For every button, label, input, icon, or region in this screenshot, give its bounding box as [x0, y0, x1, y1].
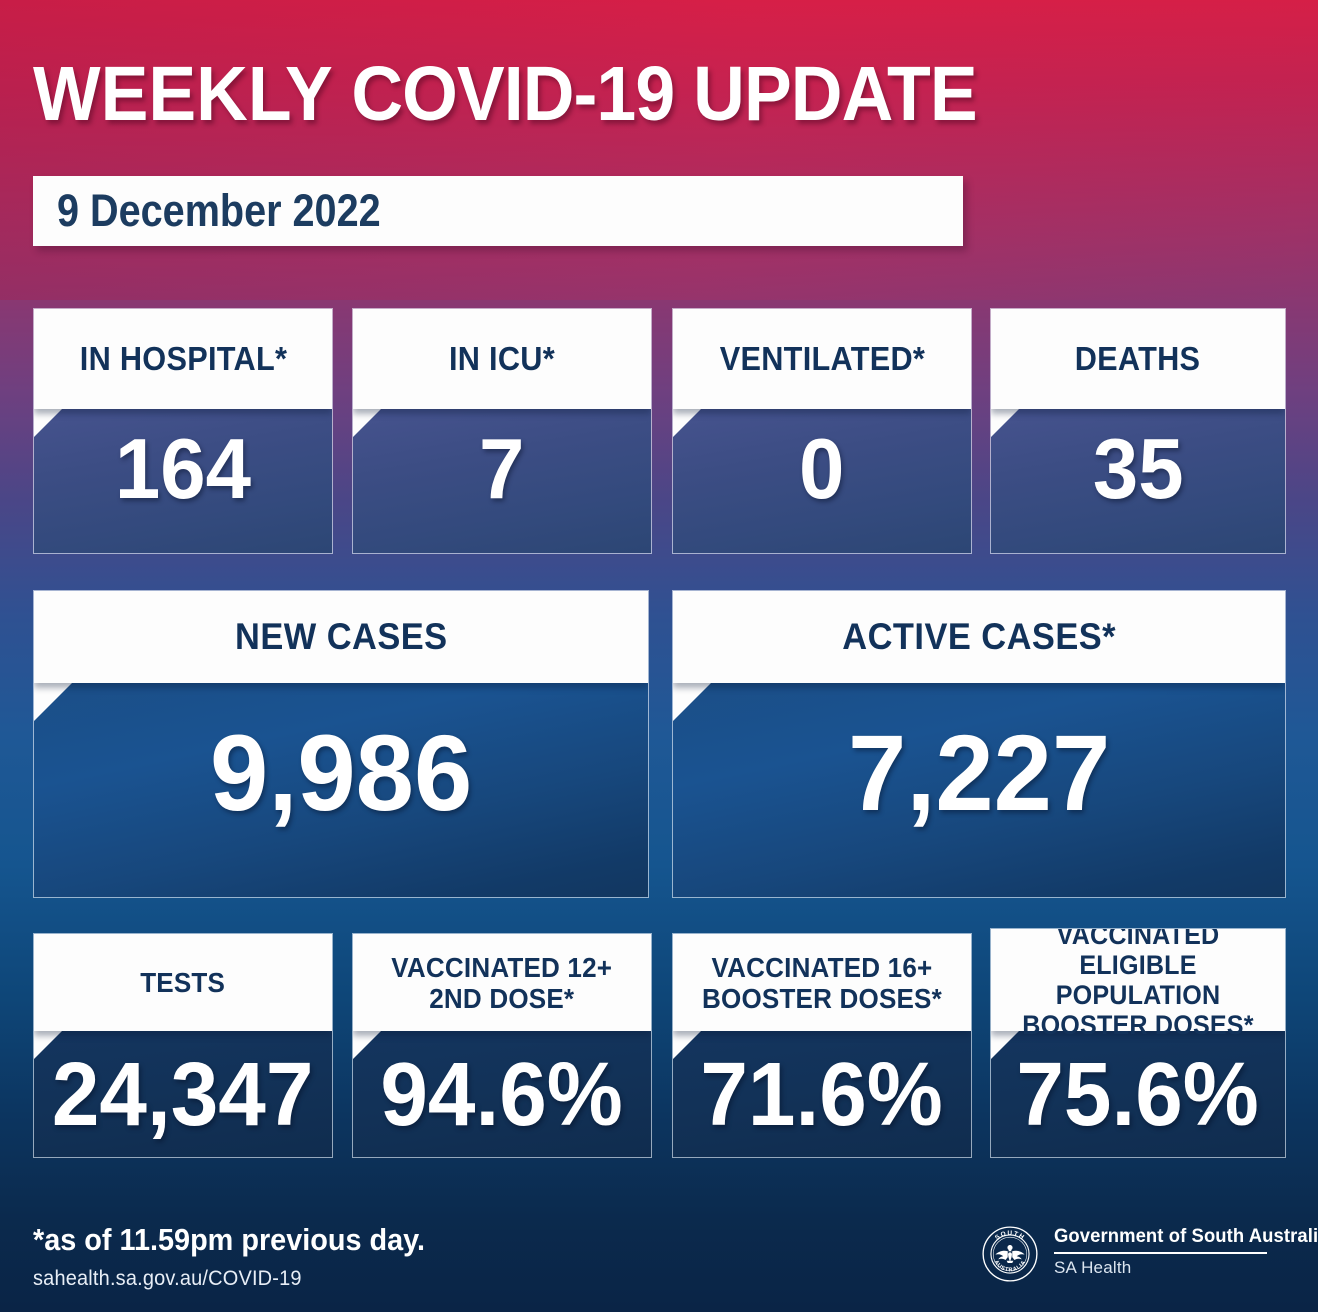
stat-value: 9,986: [210, 683, 472, 827]
stat-card-body: 164: [34, 409, 332, 554]
stat-label: IN HOSPITAL*: [79, 341, 286, 377]
stat-card-in-hospital: IN HOSPITAL* 164: [33, 308, 333, 554]
stat-value: 75.6%: [1017, 1050, 1259, 1140]
logo-department-line: SA Health: [1054, 1258, 1288, 1278]
stat-card-header: TESTS: [34, 934, 332, 1031]
page-title-part2: COVID-19 UPDATE: [351, 51, 976, 137]
stat-label: VACCINATEDELIGIBLE POPULATIONBOOSTER DOS…: [1001, 928, 1274, 1040]
stat-card-header: VENTILATED*: [673, 309, 971, 409]
logo-text-block: Government of South Australia SA Health: [1054, 1226, 1288, 1278]
stat-value: 35: [1093, 409, 1184, 512]
stat-card-new-cases: NEW CASES 9,986: [33, 590, 649, 898]
stat-value: 164: [115, 409, 251, 512]
stat-card-body: 71.6%: [673, 1031, 971, 1158]
stat-value: 71.6%: [701, 1050, 943, 1140]
stat-card-body: 7,227: [673, 683, 1285, 898]
stat-card-header: IN ICU*: [353, 309, 651, 409]
stat-card-header: VACCINATED 12+2ND DOSE*: [353, 934, 651, 1031]
logo-government-line: Government of South Australia: [1054, 1226, 1281, 1248]
page-title: WEEKLY COVID-19 UPDATE: [33, 52, 1149, 136]
report-date: 9 December 2022: [57, 185, 381, 237]
stat-label: DEATHS: [1075, 341, 1201, 377]
stat-card-deaths: DEATHS 35: [990, 308, 1286, 554]
stat-card-active-cases: ACTIVE CASES* 7,227: [672, 590, 1286, 898]
stat-card-tests: TESTS 24,347: [33, 933, 333, 1158]
stat-card-header: VACCINATED 16+BOOSTER DOSES*: [673, 934, 971, 1031]
svg-text:SOUTH: SOUTH: [994, 1230, 1026, 1242]
stat-label: ACTIVE CASES*: [842, 617, 1116, 657]
website-url[interactable]: sahealth.sa.gov.au/COVID-19: [33, 1267, 302, 1291]
footnote: *as of 11.59pm previous day.: [33, 1222, 425, 1258]
stat-card-vaccinated-eligible-population-booster: VACCINATEDELIGIBLE POPULATIONBOOSTER DOS…: [990, 928, 1286, 1158]
stat-card-header: IN HOSPITAL*: [34, 309, 332, 409]
stat-label: IN ICU*: [449, 341, 555, 377]
logo-divider: [1054, 1252, 1267, 1254]
stat-card-body: 35: [991, 409, 1285, 554]
stat-value: 94.6%: [381, 1050, 623, 1140]
stat-label: VACCINATED 16+BOOSTER DOSES*: [702, 952, 942, 1014]
stat-card-body: 7: [353, 409, 651, 554]
sa-health-logo: SOUTH AUSTRALIA Government of South Aust…: [982, 1226, 1288, 1288]
stat-card-header: NEW CASES: [34, 591, 648, 683]
stat-card-header: VACCINATEDELIGIBLE POPULATIONBOOSTER DOS…: [991, 929, 1285, 1031]
stat-label: NEW CASES: [235, 617, 448, 657]
stat-value: 24,347: [52, 1050, 314, 1140]
stat-card-body: 9,986: [34, 683, 648, 898]
stat-card-body: 75.6%: [991, 1031, 1285, 1158]
stat-card-in-icu: IN ICU* 7: [352, 308, 652, 554]
stat-value: 7,227: [848, 683, 1110, 827]
stat-value: 7: [479, 409, 524, 512]
stat-card-body: 0: [673, 409, 971, 554]
stat-card-vaccinated-12-plus-2nd-dose: VACCINATED 12+2ND DOSE* 94.6%: [352, 933, 652, 1158]
infographic-poster: WEEKLY COVID-19 UPDATE 9 December 2022 I…: [0, 0, 1318, 1312]
stat-card-body: 24,347: [34, 1031, 332, 1158]
stat-value: 0: [799, 409, 844, 512]
piping-shrike-emblem-icon: SOUTH AUSTRALIA: [982, 1226, 1038, 1282]
page-title-part1: WEEKLY: [33, 51, 351, 137]
stat-label: VACCINATED 12+2ND DOSE*: [392, 952, 613, 1014]
stat-card-ventilated: VENTILATED* 0: [672, 308, 972, 554]
stat-label: VENTILATED*: [719, 341, 924, 377]
stat-card-body: 94.6%: [353, 1031, 651, 1158]
stat-card-vaccinated-16-plus-booster: VACCINATED 16+BOOSTER DOSES* 71.6%: [672, 933, 972, 1158]
stat-card-header: DEATHS: [991, 309, 1285, 409]
stat-card-header: ACTIVE CASES*: [673, 591, 1285, 683]
date-bar: 9 December 2022: [33, 176, 963, 246]
stat-label: TESTS: [141, 967, 226, 998]
